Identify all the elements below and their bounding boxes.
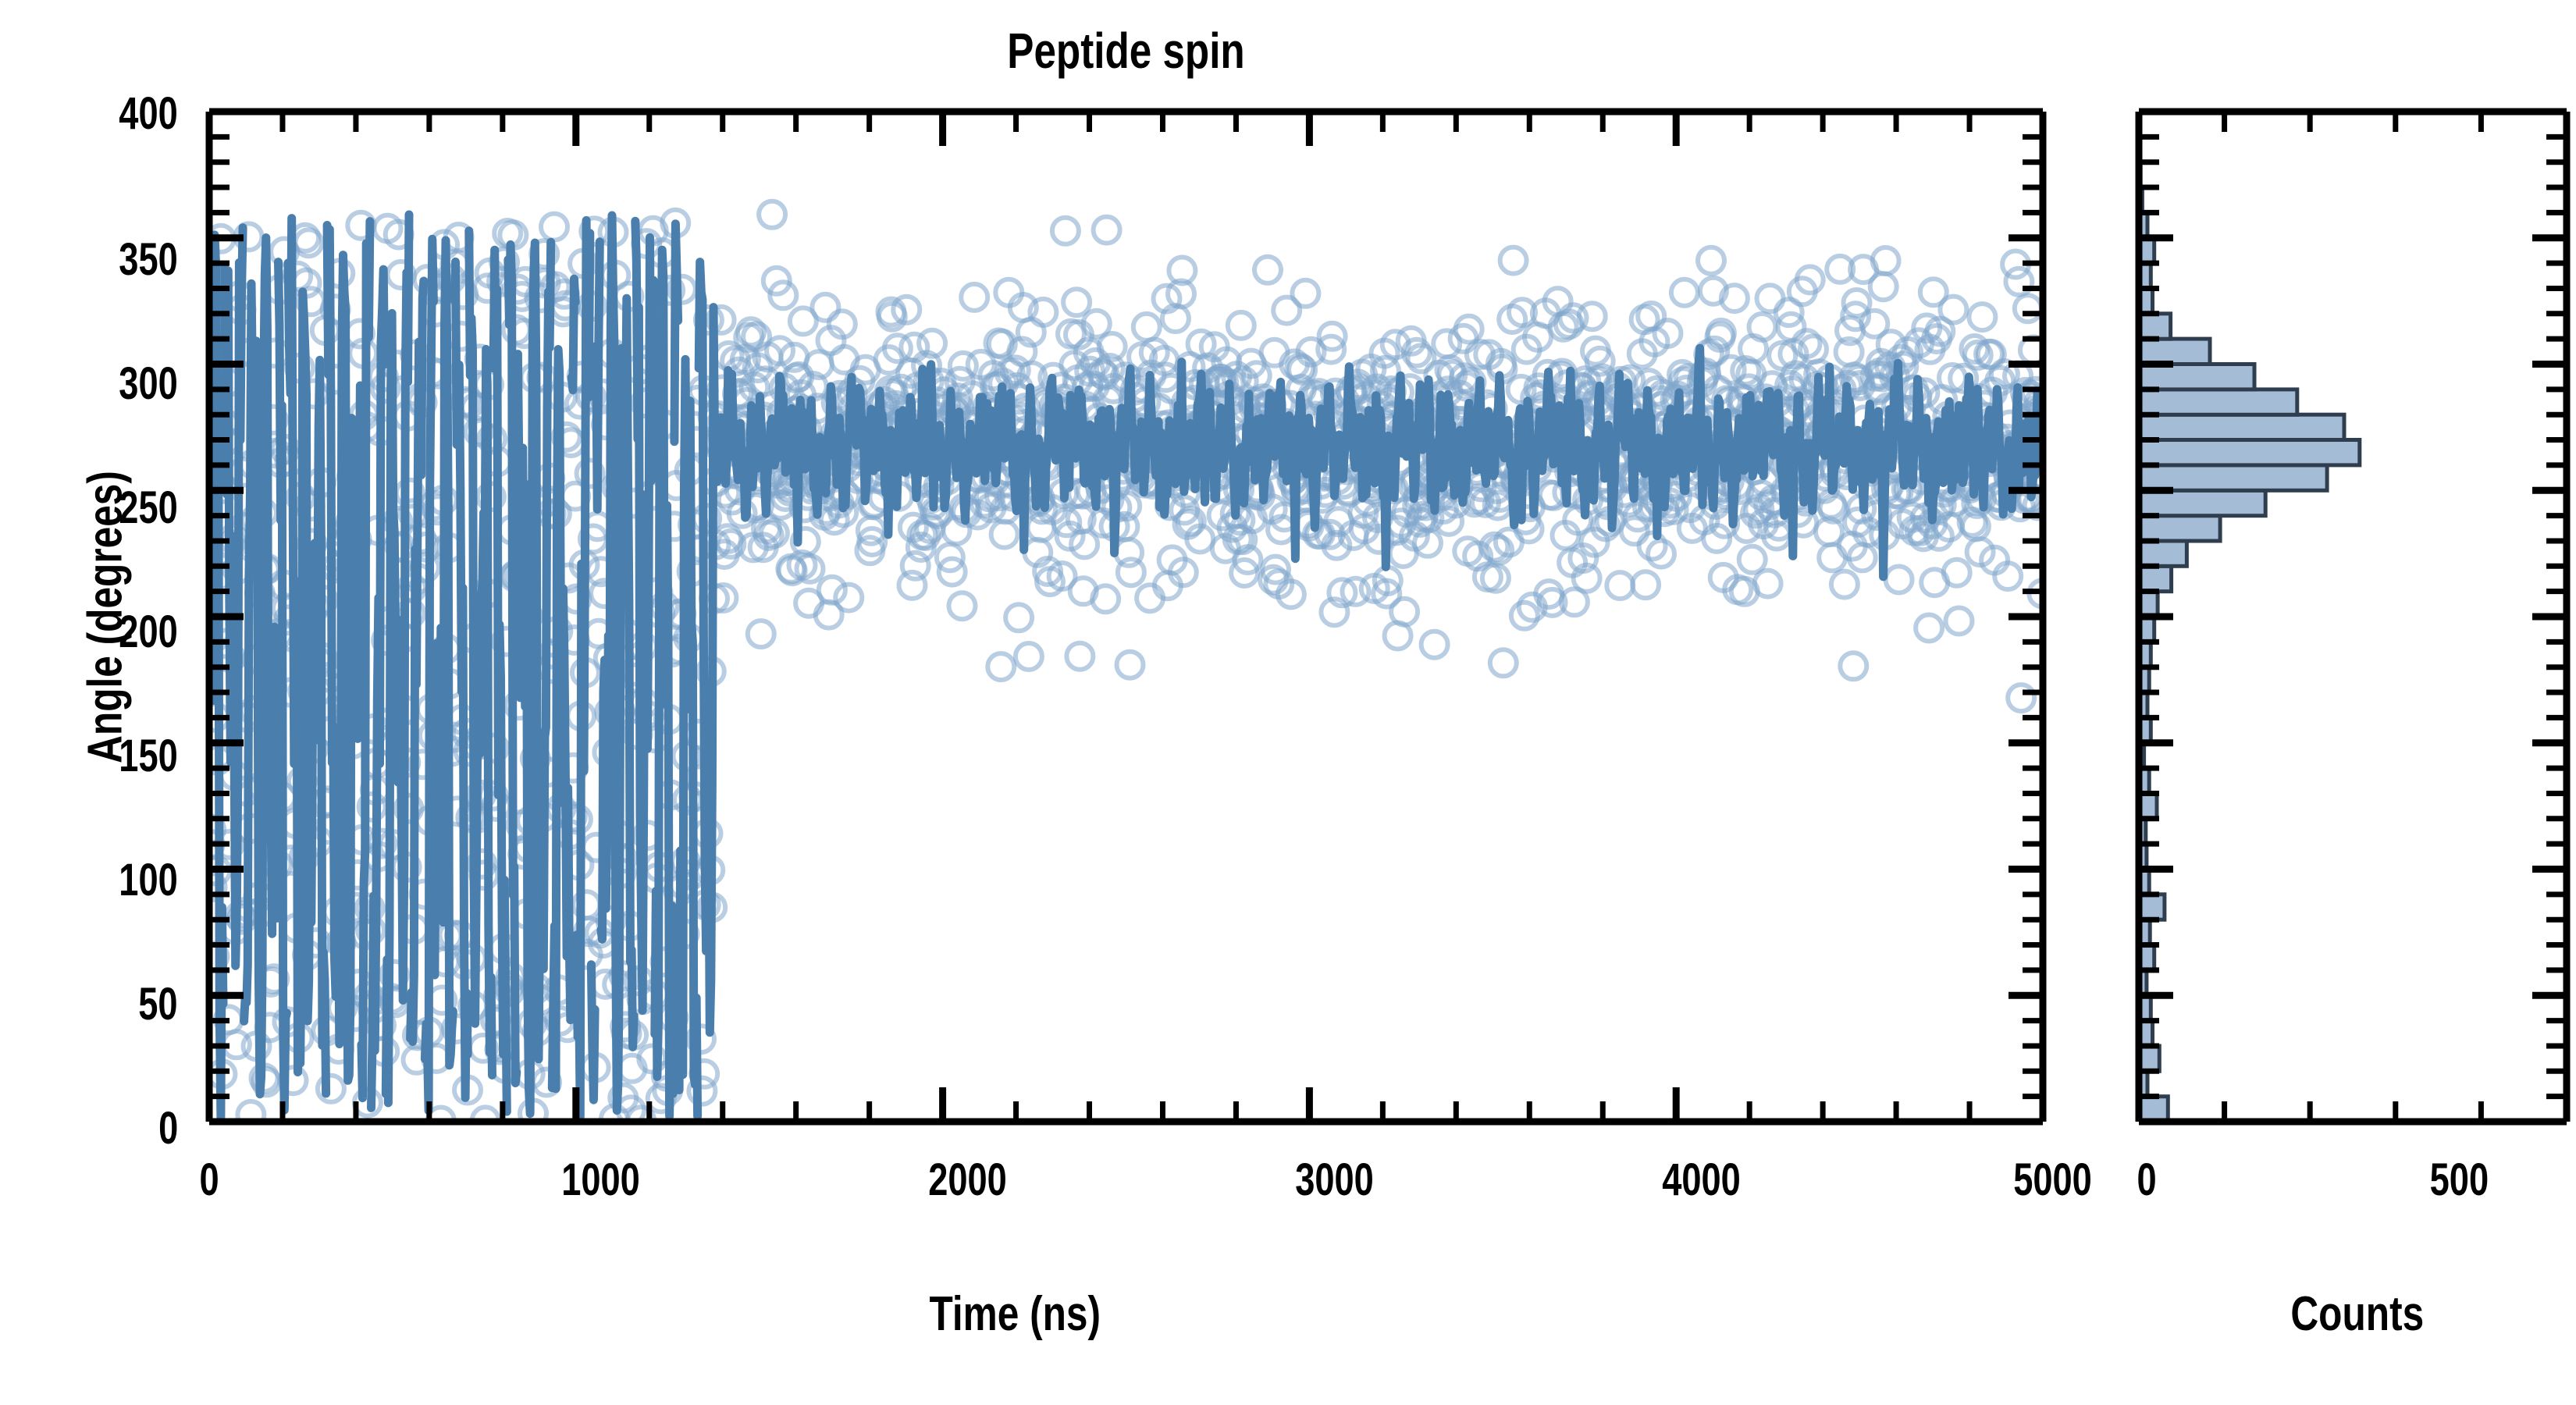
- histogram-bar: [2139, 339, 2210, 364]
- y-axis-label: Angle (degrees): [78, 399, 133, 836]
- x-axis-label: Time (ns): [624, 1286, 1405, 1342]
- histogram-bar: [2139, 314, 2171, 339]
- x-tick-0: 0: [92, 1154, 326, 1206]
- x-tick-4000: 4000: [1585, 1154, 1819, 1206]
- y-tick-350: 350: [37, 233, 178, 286]
- histogram-bar: [2139, 541, 2186, 566]
- histogram-bar: [2139, 490, 2265, 515]
- x-tick-2000: 2000: [851, 1154, 1085, 1206]
- histogram-bar: [2139, 566, 2172, 591]
- hist-tick-0: 0: [2030, 1154, 2264, 1206]
- histogram-bar: [2139, 895, 2165, 919]
- y-tick-100: 100: [37, 854, 178, 906]
- histogram-bar: [2139, 389, 2297, 414]
- y-tick-0: 0: [37, 1102, 178, 1154]
- y-tick-400: 400: [37, 87, 178, 140]
- histogram-bar: [2139, 365, 2254, 389]
- histogram-bar: [2139, 1097, 2168, 1122]
- histogram-bar: [2139, 465, 2327, 490]
- histogram-bar: [2139, 516, 2220, 541]
- figure-canvas: Peptide spin 0 50 100 150 200 250 300 35…: [0, 0, 2576, 1405]
- hist-tick-500: 500: [2342, 1154, 2576, 1206]
- x-tick-1000: 1000: [484, 1154, 718, 1206]
- y-tick-50: 50: [37, 978, 178, 1030]
- hist-x-axis-label: Counts: [2139, 1286, 2576, 1342]
- x-tick-3000: 3000: [1218, 1154, 1452, 1206]
- histogram-bar: [2139, 414, 2344, 439]
- hist-axes-frame: [2139, 112, 2567, 1122]
- histogram-bar: [2139, 440, 2360, 465]
- histogram-bars: [2139, 162, 2360, 1122]
